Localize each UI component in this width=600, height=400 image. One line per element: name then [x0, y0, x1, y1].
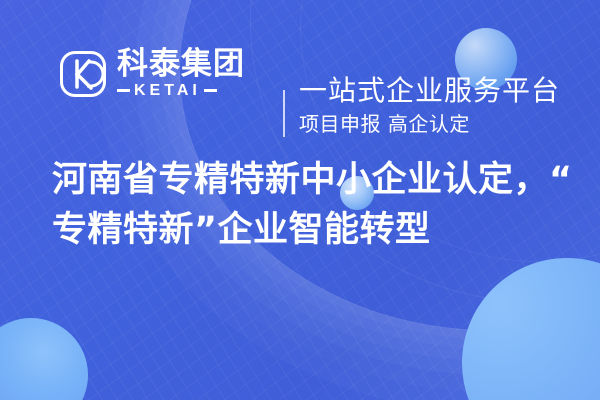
ketai-kd-monogram-icon — [58, 49, 108, 99]
page-title: 河南省专精特新中小企业认定，“ 专精特新”企业智能转型 — [52, 155, 572, 255]
brand-wordmark: 科泰集团 KETAI — [117, 47, 245, 99]
slogan-secondary: 项目申报 高企认定 — [299, 111, 589, 137]
banner-header: 科泰集团 KETAI 一站式企业服务平台 项目申报 高企认定 — [0, 33, 600, 113]
brand-logo: 科泰集团 KETAI — [58, 33, 273, 113]
promo-banner: 科泰集团 KETAI 一站式企业服务平台 项目申报 高企认定 河南省专精特新中小… — [0, 0, 600, 400]
page-title-line-1: 河南省专精特新中小企业认定，“ — [52, 155, 572, 205]
brand-name-en: KETAI — [134, 82, 201, 99]
wordmark-rule-right-icon — [204, 89, 217, 92]
vertical-divider-icon — [283, 90, 285, 137]
brand-name-en-row: KETAI — [117, 82, 245, 99]
brand-name-cn: 科泰集团 — [117, 47, 245, 81]
slogan-primary: 一站式企业服务平台 — [299, 74, 589, 108]
wordmark-rule-left-icon — [117, 89, 130, 92]
header-slogan: 一站式企业服务平台 项目申报 高企认定 — [299, 74, 589, 137]
page-title-line-2: 专精特新”企业智能转型 — [52, 205, 572, 255]
